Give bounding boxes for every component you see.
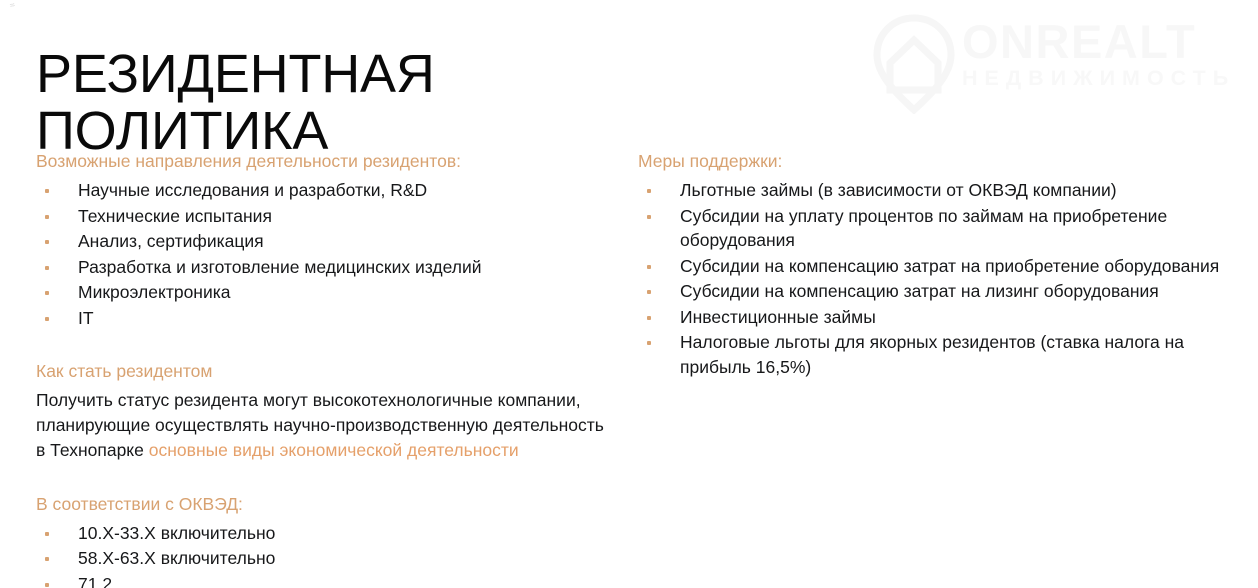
how-to-paragraph: Получить статус резидента могут высокоте… [36,388,611,463]
support-heading: Меры поддержки: [638,150,1238,173]
list-item: Технические испытания [36,204,621,229]
how-to-heading: Как стать резидентом [36,360,621,383]
list-item: Субсидии на уплату процентов по займам н… [638,204,1238,253]
section-directions: Возможные направления деятельности резид… [36,150,621,330]
list-item: 58.X-63.X включительно [36,546,621,571]
list-item: Инвестиционные займы [638,305,1238,330]
corner-artifact: ≈ [9,0,16,10]
section-how-to-become-resident: Как стать резидентом Получить статус рез… [36,360,621,463]
okved-heading: В соответствии с ОКВЭД: [36,493,621,516]
slide-root: ONREALT НЕДВИЖИМОСТЬ ≈ РЕЗИДЕНТНАЯ ПОЛИТ… [0,0,1258,588]
list-item: Микроэлектроника [36,280,621,305]
page-title: РЕЗИДЕНТНАЯ ПОЛИТИКА [36,46,435,160]
list-item: Научные исследования и разработки, R&D [36,178,621,203]
directions-list: Научные исследования и разработки, R&D Т… [36,178,621,330]
economic-activities-link[interactable]: основные виды экономической деятельности [149,440,519,460]
okved-list: 10.X-33.X включительно 58.X-63.X включит… [36,521,621,588]
list-item: Налоговые льготы для якорных резидентов … [638,330,1238,379]
watermark-text: ONREALT НЕДВИЖИМОСТЬ [962,18,1258,90]
watermark-tagline: НЕДВИЖИМОСТЬ [962,68,1258,90]
section-okved: В соответствии с ОКВЭД: 10.X-33.X включи… [36,493,621,588]
list-item: Льготные займы (в зависимости от ОКВЭД к… [638,178,1238,203]
list-item: Субсидии на компенсацию затрат на лизинг… [638,279,1238,304]
watermark-brand: ONREALT [962,18,1258,65]
list-item: Разработка и изготовление медицинских из… [36,255,621,280]
support-list: Льготные займы (в зависимости от ОКВЭД к… [638,178,1238,379]
list-item: IT [36,306,621,331]
section-support-measures: Меры поддержки: Льготные займы (в зависи… [638,150,1238,379]
house-pin-logo-icon [866,14,962,114]
watermark: ONREALT НЕДВИЖИМОСТЬ [866,8,1258,120]
list-item: 71.2 [36,572,621,588]
list-item: Анализ, сертификация [36,229,621,254]
right-column: Меры поддержки: Льготные займы (в зависи… [638,150,1238,380]
list-item: Субсидии на компенсацию затрат на приобр… [638,254,1238,279]
directions-heading: Возможные направления деятельности резид… [36,150,621,173]
left-column: Возможные направления деятельности резид… [36,150,621,588]
list-item: 10.X-33.X включительно [36,521,621,546]
